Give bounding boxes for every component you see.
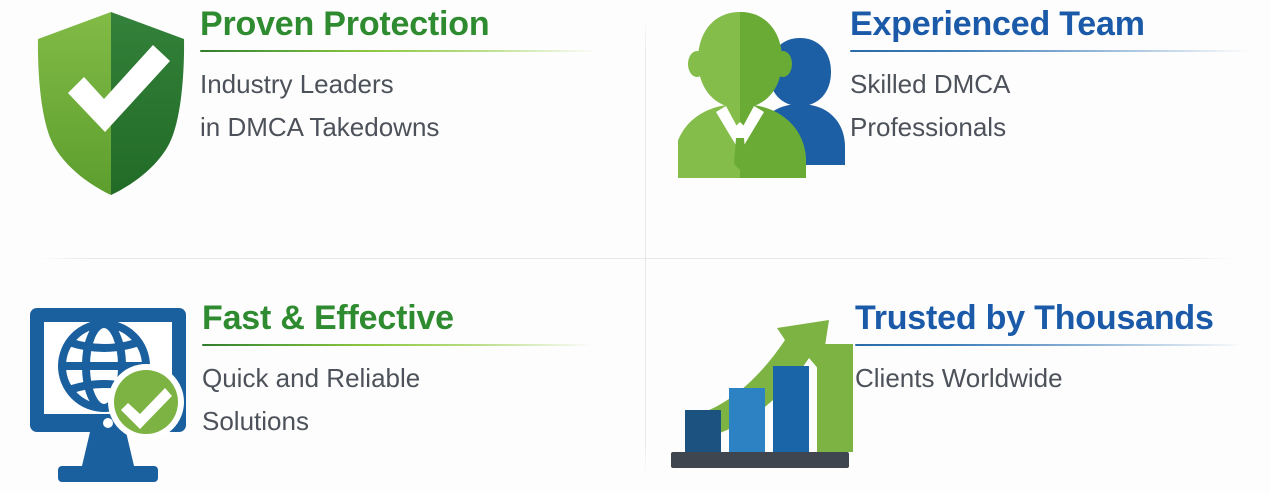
feature-card-fast-effective: Fast & Effective Quick and Reliable Solu… [22, 300, 622, 493]
feature-subtitle: Skilled DMCA Professionals [850, 63, 1258, 147]
subtitle-line: Solutions [202, 400, 622, 442]
subtitle-line: in DMCA Takedowns [200, 106, 622, 148]
heading-underline [850, 50, 1250, 52]
feature-card-proven-protection: Proven Protection Industry Leaders in DM… [22, 6, 622, 206]
people-team-icon [678, 6, 850, 191]
feature-subtitle: Industry Leaders in DMCA Takedowns [200, 63, 622, 147]
subtitle-line: Clients Worldwide [855, 357, 1255, 399]
feature-heading: Fast & Effective [202, 300, 622, 337]
monitor-globe-check-icon [22, 300, 202, 493]
heading-underline [202, 344, 592, 346]
subtitle-line: Quick and Reliable [202, 357, 622, 399]
heading-underline [855, 344, 1245, 346]
feature-card-experienced-team: Experienced Team Skilled DMCA Profession… [678, 6, 1258, 191]
feature-card-trusted-by-thousands: Trusted by Thousands Clients Worldwide [665, 300, 1255, 485]
vertical-divider [645, 18, 646, 476]
shield-check-icon [22, 6, 200, 206]
feature-text-experienced-team: Experienced Team Skilled DMCA Profession… [850, 6, 1258, 148]
horizontal-divider [38, 258, 1234, 259]
subtitle-line: Skilled DMCA [850, 63, 1258, 105]
feature-text-proven-protection: Proven Protection Industry Leaders in DM… [200, 6, 622, 148]
feature-text-fast-effective: Fast & Effective Quick and Reliable Solu… [202, 300, 622, 442]
feature-heading: Experienced Team [850, 6, 1258, 43]
feature-subtitle: Quick and Reliable Solutions [202, 357, 622, 441]
feature-text-trusted-by-thousands: Trusted by Thousands Clients Worldwide [855, 300, 1255, 400]
growth-bar-chart-icon [665, 300, 855, 485]
feature-heading: Proven Protection [200, 6, 622, 43]
feature-subtitle: Clients Worldwide [855, 357, 1255, 399]
feature-grid-canvas: Proven Protection Industry Leaders in DM… [0, 0, 1270, 493]
subtitle-line: Industry Leaders [200, 63, 622, 105]
subtitle-line: Professionals [850, 106, 1258, 148]
heading-underline [200, 50, 598, 52]
feature-heading: Trusted by Thousands [855, 300, 1255, 337]
